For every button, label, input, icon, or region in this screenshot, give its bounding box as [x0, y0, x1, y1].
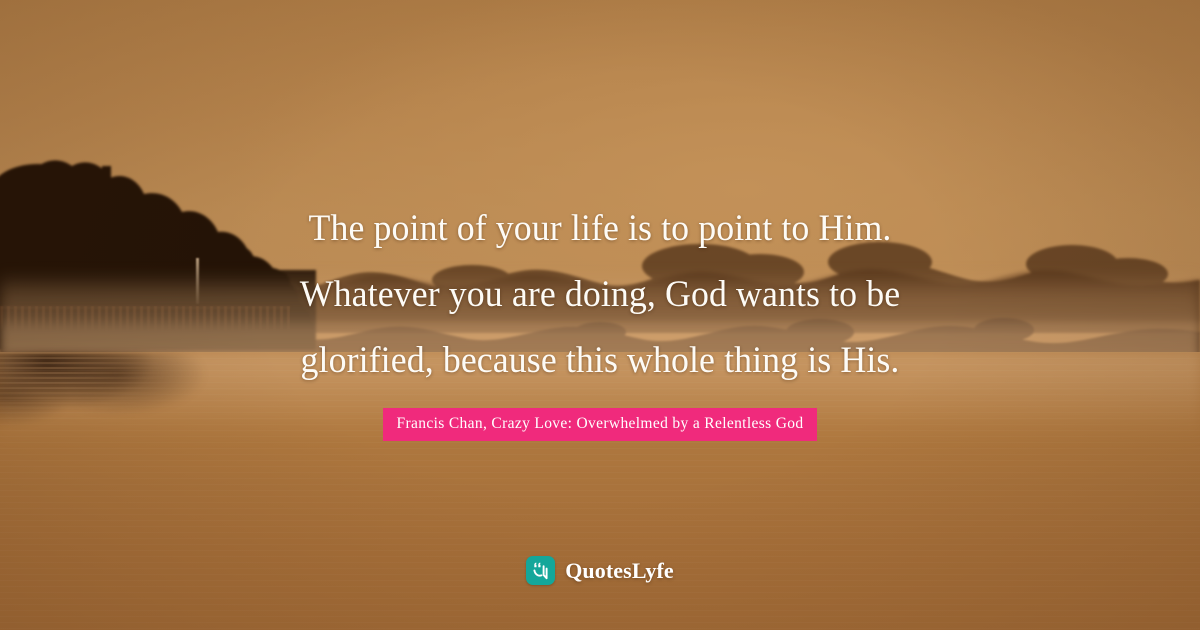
brand-name: QuotesLyfe: [565, 558, 674, 584]
attribution-wrapper: Francis Chan, Crazy Love: Overwhelmed by…: [383, 408, 818, 441]
quote-line-3: glorified, because this whole thing is H…: [237, 328, 963, 394]
quote-smiley-icon: [526, 556, 555, 585]
quote-line-2: Whatever you are doing, God wants to be: [237, 262, 963, 328]
quote-line-1: The point of your life is to point to Hi…: [237, 196, 963, 262]
quote-text: The point of your life is to point to Hi…: [237, 196, 963, 394]
overlay-content: The point of your life is to point to Hi…: [0, 0, 1200, 630]
brand-logo[interactable]: QuotesLyfe: [0, 556, 1200, 585]
attribution-badge: Francis Chan, Crazy Love: Overwhelmed by…: [383, 408, 818, 441]
quote-card: The point of your life is to point to Hi…: [0, 0, 1200, 630]
